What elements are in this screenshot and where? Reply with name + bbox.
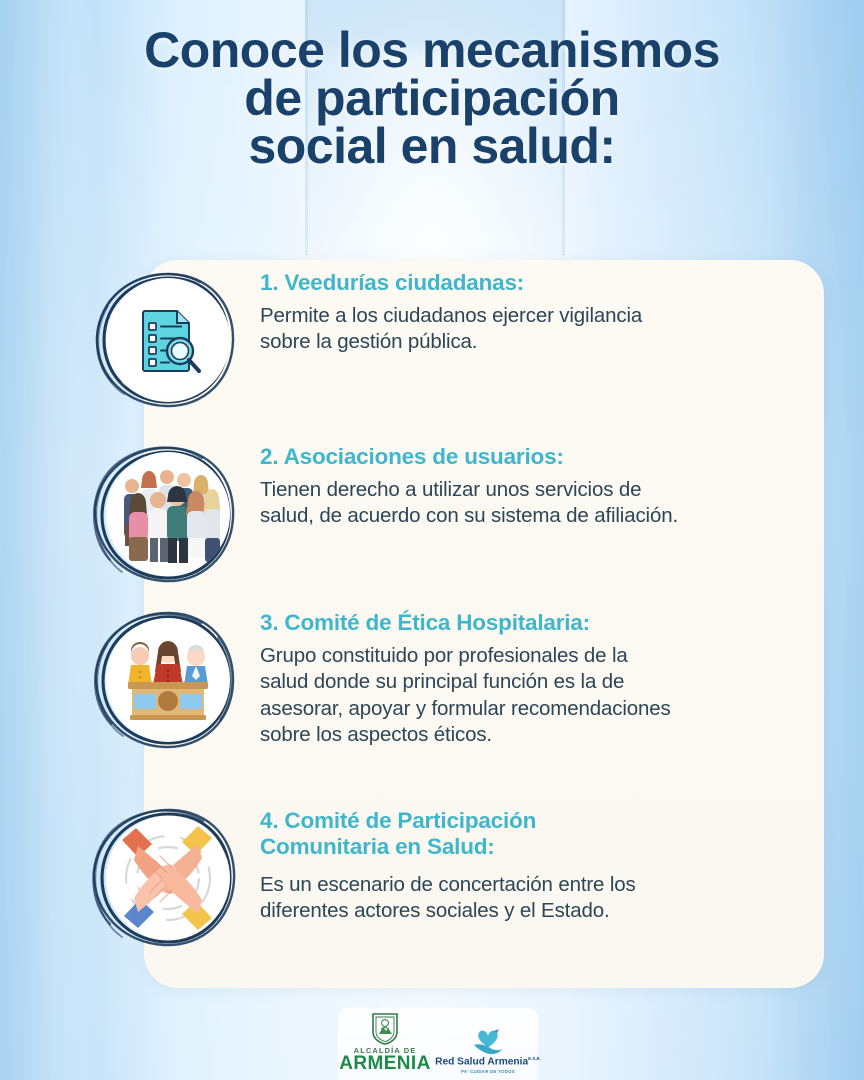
logo-red-maintext: Red Salud ArmeniaE.S.E. — [435, 1057, 541, 1068]
item-heading: 2. Asociaciones de usuarios: — [260, 444, 816, 470]
icon-frame — [76, 262, 252, 422]
item-heading: 1. Veedurías ciudadanas: — [260, 270, 816, 296]
list-item: 4. Comité de Participación Comunitaria e… — [76, 800, 816, 960]
page-title: Conoce los mecanismos de participación s… — [0, 26, 864, 170]
icon-frame — [76, 602, 252, 762]
committee-panel-icon — [120, 636, 216, 724]
logo-red-suffix: E.S.E. — [528, 1056, 541, 1061]
item-text: 1. Veedurías ciudadanas: Permite a los c… — [252, 262, 816, 356]
icon-frame — [76, 800, 252, 960]
coat-of-arms-icon — [370, 1012, 400, 1046]
footer-logos: ALCALDÍA DE ARMENIA Red Salud ArmeniaE.S… — [338, 1008, 538, 1080]
item-icon — [106, 452, 230, 576]
crowd-of-people-icon — [116, 464, 220, 564]
item-body: Grupo constituido por profesionales de l… — [260, 643, 816, 748]
joined-hands-icon — [112, 822, 224, 934]
page-title-line-1: Conoce los mecanismos — [0, 26, 864, 74]
item-text: 2. Asociaciones de usuarios: Tienen dere… — [252, 436, 816, 530]
item-body: Es un escenario de concertación entre lo… — [260, 872, 816, 924]
logo-red-name: Red Salud Armenia — [435, 1057, 528, 1068]
item-text: 3. Comité de Ética Hospitalaria: Grupo c… — [252, 602, 816, 748]
logo-red-tagline: PA' CUIDAR DE TODOS — [461, 1069, 515, 1074]
list-item: 2. Asociaciones de usuarios: Tienen dere… — [76, 436, 816, 596]
item-heading: 4. Comité de Participación Comunitaria e… — [260, 808, 816, 860]
list-item: 1. Veedurías ciudadanas: Permite a los c… — [76, 262, 816, 422]
logo-alcaldia-maintext: ARMENIA — [339, 1054, 430, 1074]
item-icon — [106, 816, 230, 940]
item-icon — [106, 278, 230, 402]
list-item: 3. Comité de Ética Hospitalaria: Grupo c… — [76, 602, 816, 762]
item-icon — [106, 618, 230, 742]
item-body: Tienen derecho a utilizar unos servicios… — [260, 477, 816, 529]
icon-frame — [76, 436, 252, 596]
page-title-line-2: de participación — [0, 74, 864, 122]
item-body: Permite a los ciudadanos ejercer vigilan… — [260, 303, 816, 355]
page-title-line-3: social en salud: — [0, 122, 864, 170]
item-text: 4. Comité de Participación Comunitaria e… — [252, 800, 816, 925]
heart-in-hand-icon — [472, 1028, 504, 1056]
item-heading: 3. Comité de Ética Hospitalaria: — [260, 610, 816, 636]
logo-red-salud-armenia: Red Salud ArmeniaE.S.E. PA' CUIDAR DE TO… — [438, 1028, 538, 1074]
document-magnifier-icon — [131, 303, 205, 377]
logo-alcaldia-armenia: ALCALDÍA DE ARMENIA — [338, 1012, 432, 1074]
